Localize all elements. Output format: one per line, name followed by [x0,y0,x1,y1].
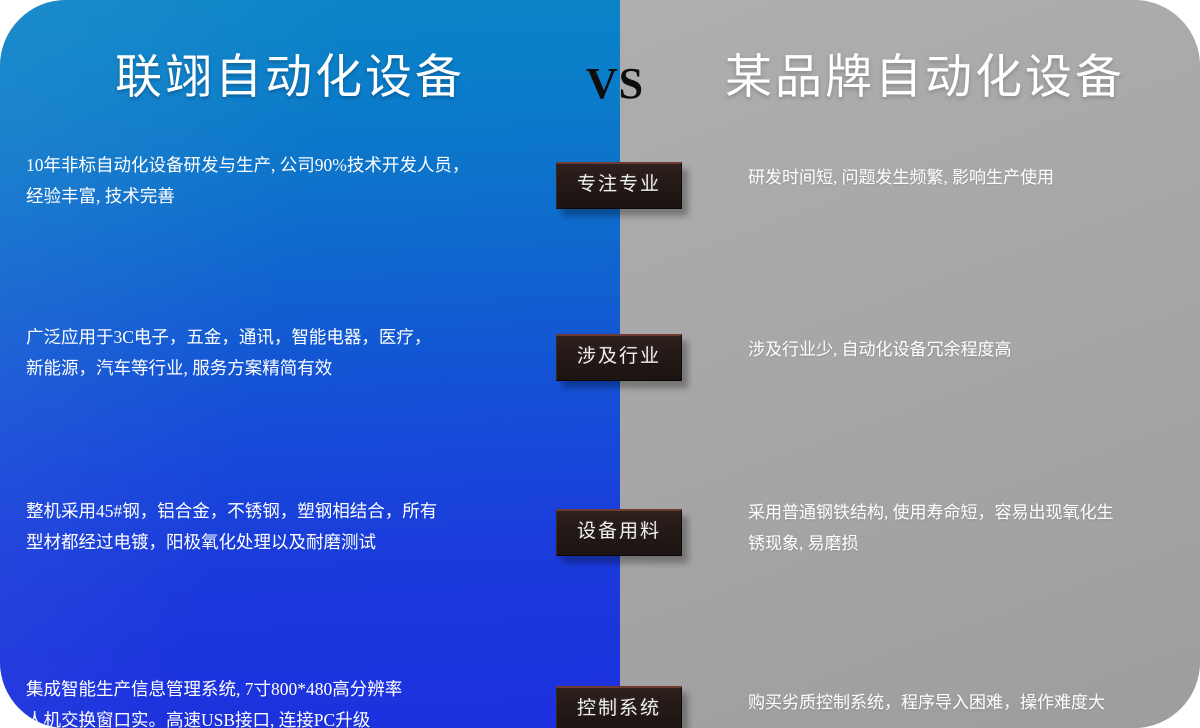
comparison-row: 技术人员充足，7*24小时在线服务, 出现问题马上安排技术人员去往现场解决, 确… [0,497,1200,583]
right-feature-text: 研发时间短, 问题发生频繁, 影响生产使用 [748,162,1188,193]
right-feature-line: 研发时间短, 问题发生频繁, 影响生产使用 [748,162,1188,193]
right-feature-text: 购买劣质控制系统，程序导入困难，操作难度大 [748,687,1188,718]
comparison-row: 10年非标自动化设备研发与生产, 公司90%技术开发人员，经验丰富, 技术完善专… [0,148,1200,234]
left-feature-text: 集成智能生产信息管理系统, 7寸800*480高分辨率人机交换窗口实。高速USB… [26,674,526,728]
left-feature-line: 经验丰富, 技术完善 [26,181,526,212]
comparison-row: 广泛应用于3C电子，五金，通讯，智能电器，医疗，新能源，汽车等行业, 服务方案精… [0,234,1200,320]
category-badge: 控制系统 [556,686,682,728]
right-brand-title: 某品牌自动化设备 [660,50,1190,106]
comparison-row: 集成智能生产信息管理系统, 7寸800*480高分辨率人机交换窗口实。高速USB… [0,410,1200,496]
vs-label: VS [560,58,670,109]
category-badge: 专注专业 [556,162,682,209]
left-brand-title: 联翊自动化设备 [0,50,580,106]
comparison-poster: 联翊自动化设备 VS 某品牌自动化设备 10年非标自动化设备研发与生产, 公司9… [0,0,1200,728]
left-feature-text: 10年非标自动化设备研发与生产, 公司90%技术开发人员，经验丰富, 技术完善 [26,150,526,212]
right-feature-line: 购买劣质控制系统，程序导入困难，操作难度大 [748,687,1188,718]
left-feature-line: 集成智能生产信息管理系统, 7寸800*480高分辨率 [26,674,526,705]
comparison-row: 整机采用45#钢，铝合金，不锈钢，塑钢相结合，所有型材都经过电镀，阳极氧化处理以… [0,321,1200,407]
comparison-row: 联翊郑重承诺：一次购买，终身维护, 只要是机器原因，非其他因素造成的损坏，免费处… [0,584,1200,670]
left-feature-line: 10年非标自动化设备研发与生产, 公司90%技术开发人员， [26,150,526,181]
left-feature-line: 人机交换窗口实。高速USB接口, 连接PC升级 [26,705,526,728]
